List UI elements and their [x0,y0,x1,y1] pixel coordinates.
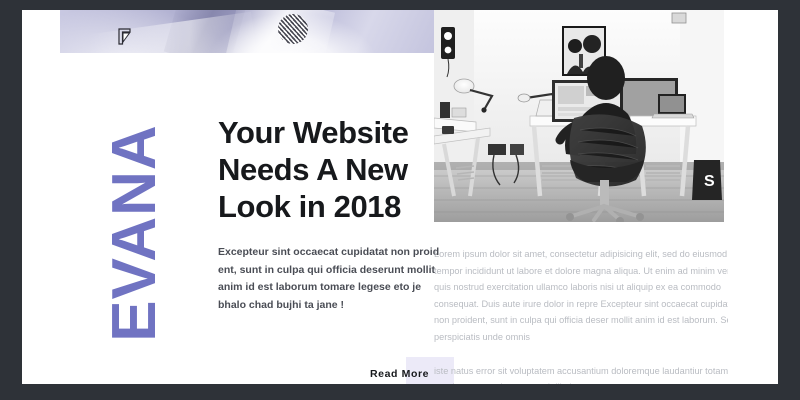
read-more-button[interactable]: Read More [366,362,433,384]
right-paragraph-1: Lorem ipsum dolor sit amet, consectetur … [434,246,728,346]
web-page-canvas: EVANA Your Website Needs A New Look in 2… [22,10,778,384]
cursor-arrow-mark [118,28,134,46]
right-paragraph-2: iste natus error sit voluptatem accusant… [434,363,728,384]
brand-wordmark-text: EVANA [104,124,166,341]
halftone-striped-circle [278,14,308,44]
right-column-text-clip: Lorem ipsum dolor sit amet, consectetur … [434,236,728,384]
page-title: Your Website Needs A New Look in 2018 [218,114,458,225]
screenshot-frame: EVANA Your Website Needs A New Look in 2… [0,0,800,400]
workspace-photo-graphic: S [434,10,724,222]
read-more-label: Read More [370,368,429,380]
top-photo-strip [60,10,434,53]
brand-wordmark: EVANA [100,88,170,378]
workspace-desk-photo: S [434,10,724,222]
hero-body-text: Excepteur sint occaecat cupidatat non pr… [218,244,440,314]
right-column-copy: Lorem ipsum dolor sit amet, consectetur … [434,246,728,384]
